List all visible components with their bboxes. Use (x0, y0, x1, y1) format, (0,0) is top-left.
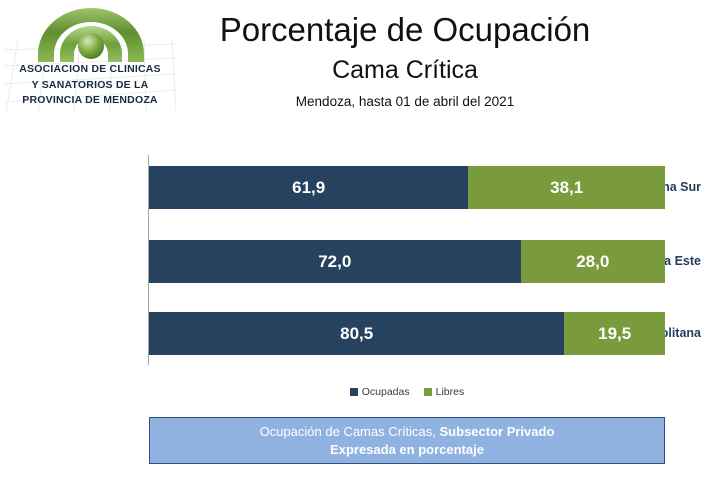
bar-segment-libres: 38,1 (468, 166, 665, 209)
chart-subtitle: Cama Crítica (180, 55, 630, 85)
chart-title: Porcentaje de Ocupación (180, 10, 630, 50)
bar-segment-ocupadas: 61,9 (149, 166, 468, 209)
legend-label: Libres (436, 386, 465, 398)
legend-item-libres[interactable]: Libres (424, 386, 465, 398)
bar-chart-plot-area: Zona Sur 61,9 38,1 Zona Este 72,0 28,0 Z… (0, 145, 701, 370)
footer-caption-box: Ocupación de Camas Críticas, Subsector P… (149, 417, 665, 464)
bar-segment-libres: 28,0 (521, 240, 665, 283)
chart-date-note: Mendoza, hasta 01 de abril del 2021 (180, 93, 630, 111)
legend-swatch-icon (350, 388, 358, 396)
table-row: 61,9 38,1 (149, 166, 665, 209)
table-row: 80,5 19,5 (149, 312, 665, 355)
legend-swatch-icon (424, 388, 432, 396)
logo-text-line3: PROVINCIA DE MENDOZA (0, 93, 180, 109)
logo-text: ASOCIACION DE CLINICAS Y SANATORIOS DE L… (0, 62, 180, 109)
bar-segment-ocupadas: 72,0 (149, 240, 521, 283)
bar-segment-libres: 19,5 (564, 312, 665, 355)
legend-item-ocupadas[interactable]: Ocupadas (350, 386, 410, 398)
chart-legend: Ocupadas Libres (149, 386, 665, 398)
logo-text-line2: Y SANATORIOS DE LA (0, 78, 180, 94)
bar-segment-ocupadas: 80,5 (149, 312, 564, 355)
logo-text-line1: ASOCIACION DE CLINICAS (0, 62, 180, 78)
caption-line-2: Expresada en porcentaje (330, 441, 484, 459)
caption-line-1-plain: Ocupación de Camas Críticas, (260, 424, 440, 439)
table-row: 72,0 28,0 (149, 240, 665, 283)
caption-line-1: Ocupación de Camas Críticas, Subsector P… (260, 423, 555, 441)
organization-logo: ASOCIACION DE CLINICAS Y SANATORIOS DE L… (0, 4, 180, 116)
arch-dome-logo-icon (36, 6, 146, 62)
caption-line-1-bold: Subsector Privado (440, 424, 555, 439)
legend-label: Ocupadas (362, 386, 410, 398)
